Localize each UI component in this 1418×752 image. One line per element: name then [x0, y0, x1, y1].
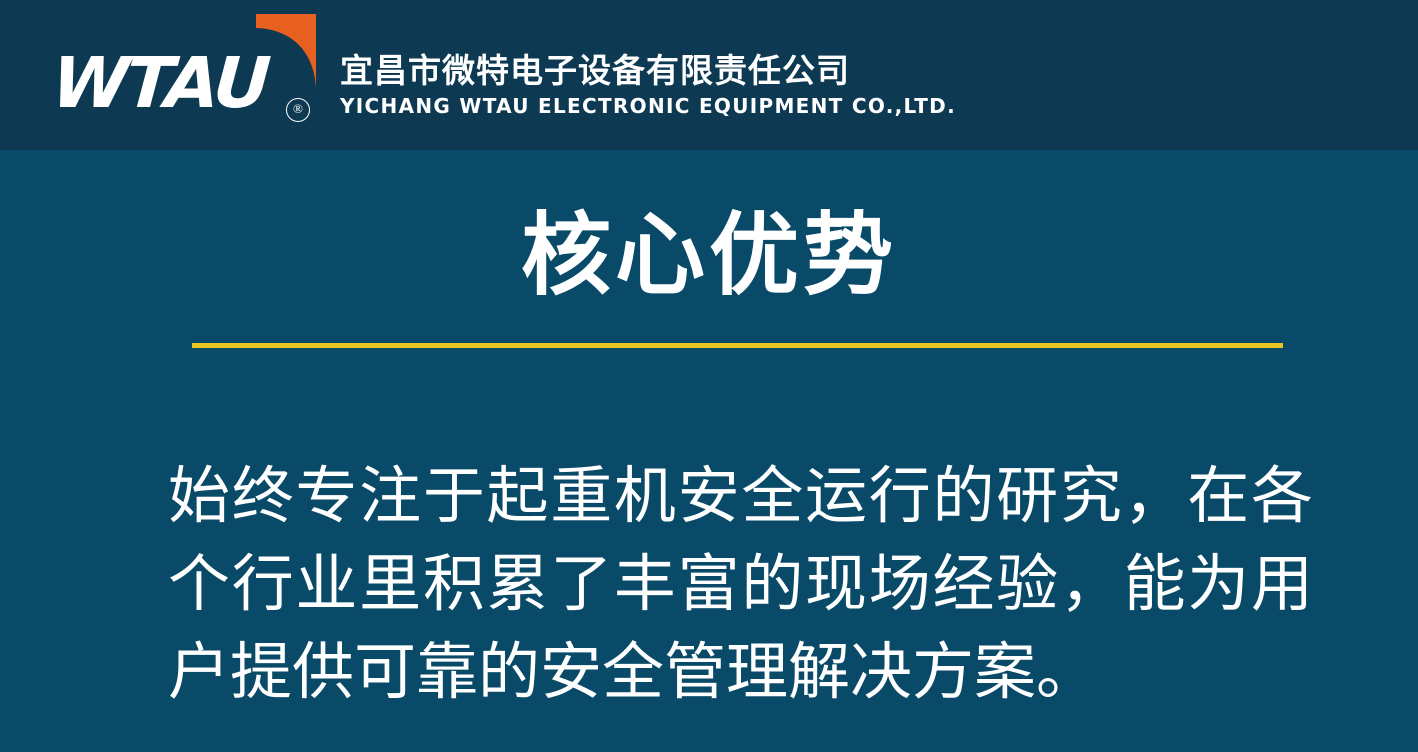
company-logo: WTAU [52, 0, 312, 150]
company-name-english: YICHANG WTAU ELECTRONIC EQUIPMENT CO.,LT… [340, 94, 960, 118]
header-band: WTAU ® 宜昌市微特电子设备有限责任公司 YICHANG WTAU ELEC… [0, 0, 1418, 150]
logo-wordmark: WTAU [50, 48, 270, 118]
registered-trademark-icon: ® [286, 98, 310, 122]
header-divider [320, 0, 321, 150]
page-title: 核心优势 [0, 206, 1418, 307]
body-paragraph: 始终专注于起重机安全运行的研究，在各个行业里积累了丰富的现场经验，能为用户提供可… [168, 452, 1313, 716]
title-underline-rule [192, 343, 1283, 348]
company-name-chinese: 宜昌市微特电子设备有限责任公司 [340, 52, 960, 90]
slide-root: WTAU ® 宜昌市微特电子设备有限责任公司 YICHANG WTAU ELEC… [0, 0, 1418, 752]
company-name-block: 宜昌市微特电子设备有限责任公司 YICHANG WTAU ELECTRONIC … [340, 52, 960, 118]
